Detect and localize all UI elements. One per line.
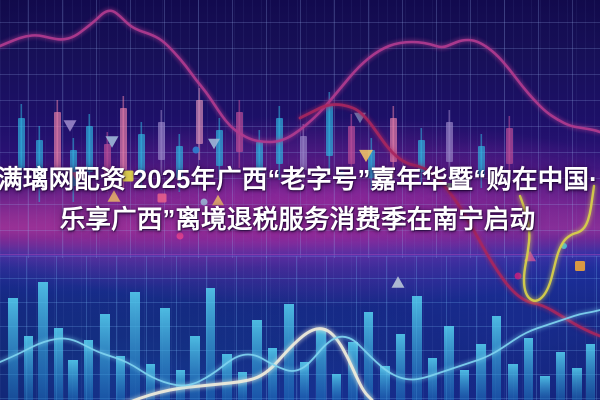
vignette-overlay xyxy=(0,0,600,400)
banner-image: 满璃网配资 2025年广西“老字号”嘉年华暨“购在中国·乐享广西”离境退税服务消… xyxy=(0,0,600,400)
